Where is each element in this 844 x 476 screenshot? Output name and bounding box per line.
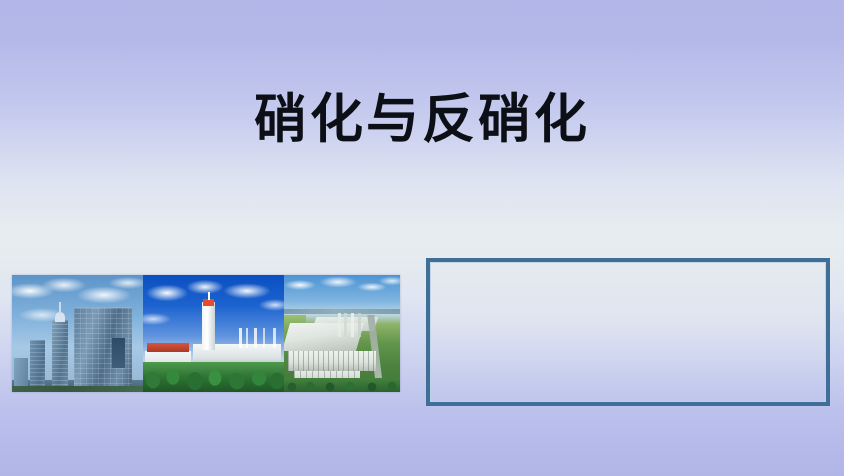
city-glass-block-notch	[112, 338, 125, 368]
aerial-front-building	[288, 351, 376, 371]
page-title: 硝化与反硝化	[0, 88, 844, 150]
plant-white-tower	[202, 302, 215, 350]
city-foreground-shrubs	[12, 386, 143, 392]
plant-tower-mast	[208, 292, 210, 300]
city-tower-left	[30, 340, 45, 392]
photo-aerial-facility	[284, 275, 400, 392]
aerial-process-units	[338, 313, 364, 337]
aerial-treeline	[284, 378, 400, 392]
photo-strip	[12, 275, 400, 392]
presentation-slide: 硝化与反硝化	[0, 0, 844, 476]
city-tower-mast	[59, 302, 61, 314]
photo-industrial-plant	[143, 275, 284, 392]
content-placeholder-text[interactable]	[430, 262, 826, 282]
plant-tower-crown	[203, 299, 214, 306]
plant-red-roof	[147, 343, 189, 352]
photo-city-skyscrapers	[12, 275, 143, 392]
plant-treeline	[143, 362, 284, 392]
plant-stacks	[239, 328, 279, 348]
city-tower-slim	[52, 320, 68, 392]
content-placeholder-box[interactable]	[426, 258, 830, 406]
